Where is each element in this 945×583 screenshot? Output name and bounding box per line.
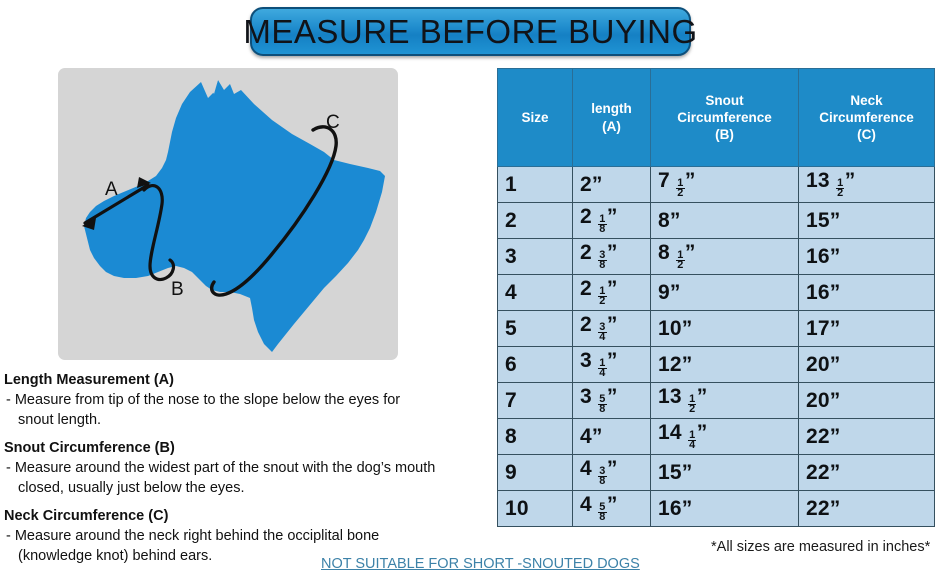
cell-size: 1 <box>498 167 573 203</box>
cell-snout-circumference: 15” <box>651 455 799 491</box>
fraction: 58 <box>598 395 606 415</box>
column-header-length: length (A) <box>573 69 651 167</box>
table-row: 32 38”8 12”16” <box>498 239 935 275</box>
cell-length: 2 38” <box>573 239 651 275</box>
cell-size: 5 <box>498 311 573 347</box>
table-row: 42 12”9”16” <box>498 275 935 311</box>
cell-length: 3 14” <box>573 347 651 383</box>
inch-mark: ” <box>592 425 603 448</box>
inch-mark: ” <box>682 461 693 484</box>
fraction: 14 <box>688 431 696 451</box>
cell-snout-circumference: 14 14” <box>651 419 799 455</box>
fraction-denominator: 2 <box>676 189 684 198</box>
fraction-denominator: 8 <box>598 477 606 486</box>
label-a: A <box>105 179 118 200</box>
fraction: 58 <box>598 503 606 523</box>
cell-snout-circumference: 8” <box>651 203 799 239</box>
inch-mark: ” <box>685 169 696 192</box>
fraction-denominator: 2 <box>688 405 696 414</box>
inch-mark: ” <box>830 353 841 376</box>
cell-neck-circumference: 15” <box>799 203 935 239</box>
size-chart-body: 12”7 12”13 12”22 18”8”15”32 38”8 12”16”4… <box>498 167 935 527</box>
table-header-row: Size length (A) Snout Circumference (B) … <box>498 69 935 167</box>
cell-length: 3 58” <box>573 383 651 419</box>
table-row: 22 18”8”15” <box>498 203 935 239</box>
inch-mark: ” <box>830 281 841 304</box>
cell-snout-circumference: 9” <box>651 275 799 311</box>
inch-mark: ” <box>682 353 693 376</box>
inch-mark: ” <box>845 169 856 192</box>
inch-mark: ” <box>697 385 708 408</box>
inch-mark: ” <box>682 497 693 520</box>
column-header-neck-circumference: Neck Circumference (C) <box>799 69 935 167</box>
cell-neck-circumference: 16” <box>799 275 935 311</box>
inch-mark: ” <box>607 457 618 480</box>
inch-mark: ” <box>682 317 693 340</box>
inch-mark: ” <box>830 245 841 268</box>
fraction: 34 <box>598 323 606 343</box>
cell-length: 4 58” <box>573 491 651 527</box>
units-note: *All sizes are measured in inches* <box>711 539 930 555</box>
cell-length: 4” <box>573 419 651 455</box>
inch-mark: ” <box>607 313 618 336</box>
cell-size: 4 <box>498 275 573 311</box>
header-line-1: Snout <box>651 92 798 109</box>
header-line-1: length <box>573 100 650 117</box>
header-line-3: (B) <box>651 126 798 143</box>
inch-mark: ” <box>830 425 841 448</box>
header-line-1: Size <box>498 109 572 126</box>
instruction-heading: Length Measurement (A) <box>4 371 490 390</box>
instruction-line-2: snout length. <box>6 411 490 430</box>
fraction-denominator: 2 <box>836 189 844 198</box>
inch-mark: ” <box>830 317 841 340</box>
cell-neck-circumference: 13 12” <box>799 167 935 203</box>
instruction-line-1: - Measure from tip of the nose to the sl… <box>6 392 400 408</box>
table-row: 73 58”13 12”20” <box>498 383 935 419</box>
cell-size: 7 <box>498 383 573 419</box>
fraction-denominator: 8 <box>598 513 606 522</box>
fraction-denominator: 4 <box>598 369 606 378</box>
cell-snout-circumference: 16” <box>651 491 799 527</box>
instruction-text: - Measure around the widest part of the … <box>4 459 490 498</box>
fraction-denominator: 2 <box>676 261 684 270</box>
cell-length: 2 18” <box>573 203 651 239</box>
inch-mark: ” <box>607 385 618 408</box>
instruction-line-2: closed, usually just below the eyes. <box>6 479 490 498</box>
cell-size: 10 <box>498 491 573 527</box>
inch-mark: ” <box>685 241 696 264</box>
column-header-snout-circumference: Snout Circumference (B) <box>651 69 799 167</box>
header-line-3: (C) <box>799 126 934 143</box>
fraction-denominator: 8 <box>598 225 606 234</box>
instruction-line-1: - Measure around the widest part of the … <box>6 460 435 476</box>
fraction-denominator: 2 <box>598 297 606 306</box>
instruction-block-snout: Snout Circumference (B) - Measure around… <box>4 439 490 498</box>
cell-neck-circumference: 20” <box>799 383 935 419</box>
column-header-size: Size <box>498 69 573 167</box>
inch-mark: ” <box>830 209 841 232</box>
cell-size: 3 <box>498 239 573 275</box>
table-row: 63 14”12”20” <box>498 347 935 383</box>
label-b: B <box>171 279 184 300</box>
cell-length: 2” <box>573 167 651 203</box>
dog-measurement-diagram: A B C <box>58 68 398 360</box>
fraction-denominator: 4 <box>598 333 606 342</box>
cell-size: 9 <box>498 455 573 491</box>
cell-size: 8 <box>498 419 573 455</box>
measurement-instructions: Length Measurement (A) - Measure from ti… <box>4 371 490 575</box>
inch-mark: ” <box>592 173 603 196</box>
cell-neck-circumference: 16” <box>799 239 935 275</box>
fraction-denominator: 4 <box>688 441 696 450</box>
fraction: 18 <box>598 215 606 235</box>
fraction: 12 <box>836 179 844 199</box>
cell-neck-circumference: 22” <box>799 491 935 527</box>
cell-length: 2 12” <box>573 275 651 311</box>
cell-snout-circumference: 10” <box>651 311 799 347</box>
table-row: 84”14 14”22” <box>498 419 935 455</box>
fraction-denominator: 8 <box>598 261 606 270</box>
size-chart-table: Size length (A) Snout Circumference (B) … <box>497 68 935 527</box>
cell-snout-circumference: 7 12” <box>651 167 799 203</box>
fraction: 12 <box>676 251 684 271</box>
table-row: 12”7 12”13 12” <box>498 167 935 203</box>
fraction: 12 <box>676 179 684 199</box>
inch-mark: ” <box>697 421 708 444</box>
header-line-2: Circumference <box>651 109 798 126</box>
inch-mark: ” <box>830 461 841 484</box>
measure-before-buying-banner: MEASURE BEFORE BUYING <box>250 7 691 56</box>
banner-title: MEASURE BEFORE BUYING <box>243 13 697 51</box>
not-suitable-notice: NOT SUITABLE FOR SHORT -SNOUTED DOGS <box>321 556 640 572</box>
inch-mark: ” <box>607 493 618 516</box>
instruction-block-length: Length Measurement (A) - Measure from ti… <box>4 371 490 430</box>
cell-neck-circumference: 22” <box>799 455 935 491</box>
inch-mark: ” <box>607 277 618 300</box>
fraction: 14 <box>598 359 606 379</box>
table-row: 94 38”15”22” <box>498 455 935 491</box>
cell-length: 2 34” <box>573 311 651 347</box>
dog-head-illustration: A B C <box>58 68 398 360</box>
cell-snout-circumference: 12” <box>651 347 799 383</box>
table-row: 104 58”16”22” <box>498 491 935 527</box>
cell-size: 2 <box>498 203 573 239</box>
inch-mark: ” <box>670 209 681 232</box>
cell-snout-circumference: 13 12” <box>651 383 799 419</box>
fraction: 38 <box>598 467 606 487</box>
inch-mark: ” <box>830 497 841 520</box>
header-line-2: (A) <box>573 118 650 135</box>
cell-length: 4 38” <box>573 455 651 491</box>
cell-neck-circumference: 17” <box>799 311 935 347</box>
inch-mark: ” <box>607 205 618 228</box>
instruction-heading: Snout Circumference (B) <box>4 439 490 458</box>
cell-snout-circumference: 8 12” <box>651 239 799 275</box>
cell-neck-circumference: 22” <box>799 419 935 455</box>
table-row: 52 34”10”17” <box>498 311 935 347</box>
inch-mark: ” <box>607 349 618 372</box>
cell-size: 6 <box>498 347 573 383</box>
instruction-line-1: - Measure around the neck right behind t… <box>6 528 379 544</box>
size-chart-header: Size length (A) Snout Circumference (B) … <box>498 69 935 167</box>
instruction-text: - Measure from tip of the nose to the sl… <box>4 391 490 430</box>
header-line-2: Circumference <box>799 109 934 126</box>
fraction-denominator: 8 <box>598 405 606 414</box>
instruction-heading: Neck Circumference (C) <box>4 507 490 526</box>
inch-mark: ” <box>670 281 681 304</box>
dog-head-silhouette <box>84 80 385 352</box>
label-c: C <box>326 112 340 133</box>
fraction: 12 <box>598 287 606 307</box>
fraction: 12 <box>688 395 696 415</box>
inch-mark: ” <box>830 389 841 412</box>
fraction: 38 <box>598 251 606 271</box>
inch-mark: ” <box>607 241 618 264</box>
cell-neck-circumference: 20” <box>799 347 935 383</box>
header-line-1: Neck <box>799 92 934 109</box>
